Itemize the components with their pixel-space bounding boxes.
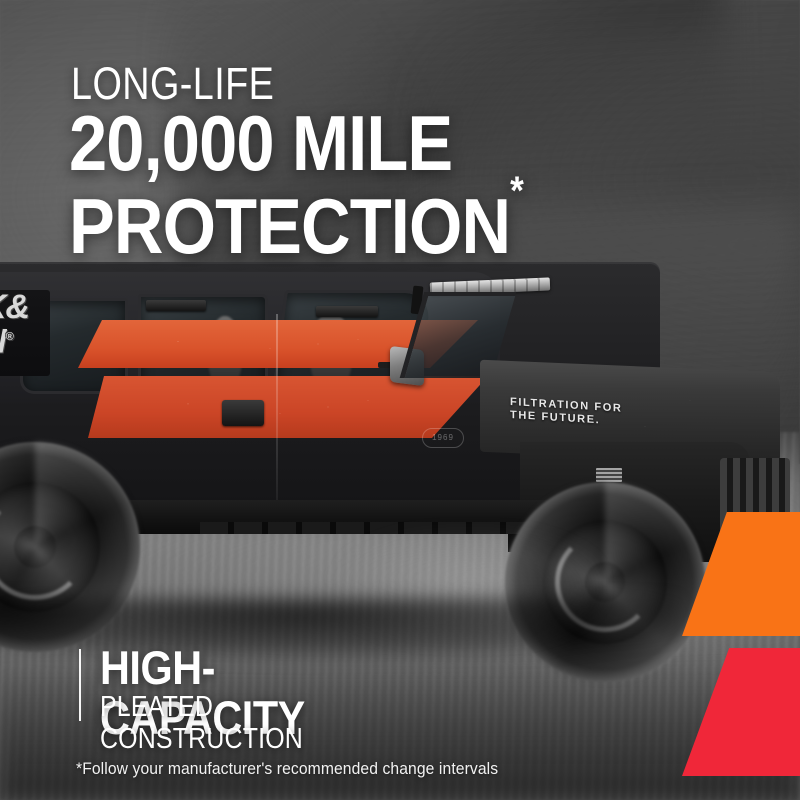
jeep-vehicle: K& N® 1969 FILTRATION FOR THE FUTURE. bbox=[0, 232, 790, 652]
headline-line-2-wrap: PROTECTION* bbox=[69, 178, 523, 261]
footnote-disclaimer: *Follow your manufacturer's recommended … bbox=[76, 760, 498, 779]
kn-filter-advertisement: K& N® 1969 FILTRATION FOR THE FUTURE. bbox=[0, 0, 800, 800]
lower-subhead: PLEATED CONSTRUCTION bbox=[100, 691, 303, 755]
vertical-rule-divider bbox=[79, 649, 81, 721]
rear-hub bbox=[14, 526, 56, 568]
door-badge: 1969 bbox=[422, 428, 464, 448]
rear-rim-highlight bbox=[0, 494, 88, 600]
main-headline: 20,000 MILE PROTECTION* bbox=[69, 108, 523, 261]
headline-line-2: PROTECTION bbox=[69, 182, 510, 270]
rear-door-handle bbox=[146, 300, 206, 311]
door-seam bbox=[276, 314, 278, 504]
usa-flag-decal bbox=[596, 468, 622, 482]
front-door-handle bbox=[316, 306, 378, 317]
door-latch bbox=[222, 400, 264, 426]
kn-logo-registered: ® bbox=[6, 331, 13, 343]
kn-brand-logo: K& N® bbox=[0, 292, 29, 356]
rear-rim bbox=[0, 482, 100, 612]
headline-line-1: 20,000 MILE bbox=[69, 99, 452, 187]
headline-asterisk: * bbox=[510, 169, 523, 213]
kn-logo-text: K& bbox=[0, 288, 29, 326]
